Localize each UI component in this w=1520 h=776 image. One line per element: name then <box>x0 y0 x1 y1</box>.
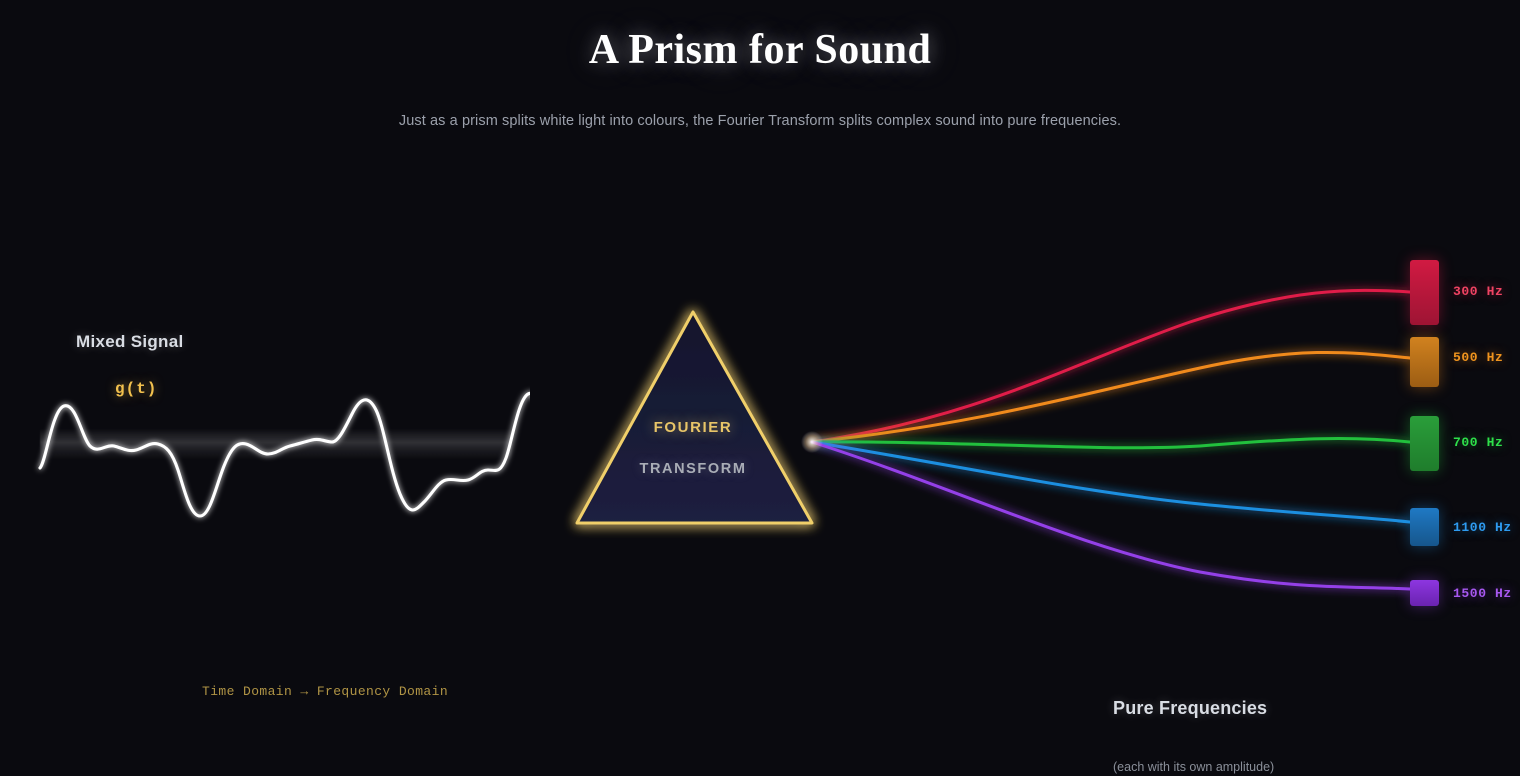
amplitude-bar-700hz[interactable] <box>1410 416 1439 471</box>
frequency-label-700hz: 700 Hz <box>1453 435 1503 450</box>
dispersed-frequency-rays <box>0 0 1520 776</box>
prism-visualization-canvas: A Prism for Sound Just as a prism splits… <box>0 0 1520 776</box>
amplitude-bar-1100hz[interactable] <box>1410 508 1439 546</box>
frequency-label-500hz: 500 Hz <box>1453 350 1503 365</box>
ray-300hz <box>812 290 1410 442</box>
ray-1100hz <box>812 442 1410 522</box>
dispersion-point <box>801 431 823 453</box>
pure-frequencies-heading: Pure Frequencies <box>1113 698 1267 719</box>
frequency-label-1500hz: 1500 Hz <box>1453 586 1512 601</box>
amplitude-bar-500hz[interactable] <box>1410 337 1439 387</box>
ray-700hz <box>812 439 1410 448</box>
domain-transition-note: Time Domain → Frequency Domain <box>202 684 448 699</box>
pure-frequencies-subheading: (each with its own amplitude) <box>1113 760 1274 774</box>
amplitude-bar-300hz[interactable] <box>1410 260 1439 325</box>
ray-path-group <box>812 290 1410 589</box>
frequency-label-1100hz: 1100 Hz <box>1453 520 1512 535</box>
ray-500hz <box>812 352 1410 442</box>
frequency-label-300hz: 300 Hz <box>1453 284 1503 299</box>
amplitude-bar-1500hz[interactable] <box>1410 580 1439 606</box>
